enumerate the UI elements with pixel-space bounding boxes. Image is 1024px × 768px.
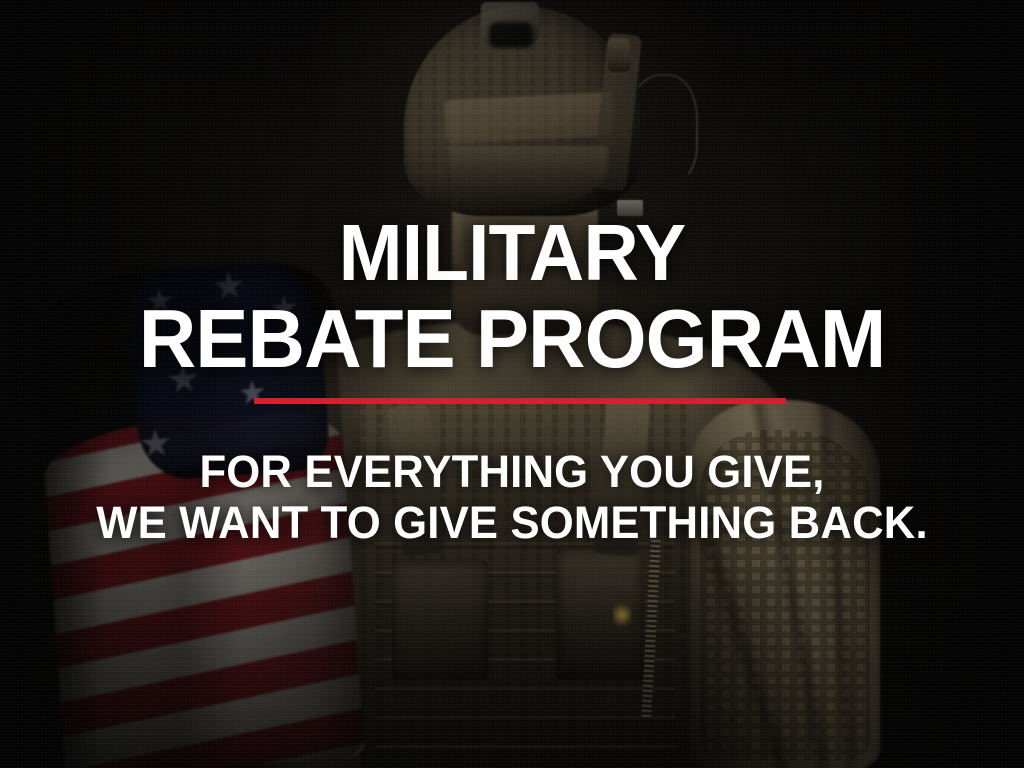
helmet-velcro-panel: [444, 92, 614, 145]
subheadline-line-1: FOR EVERYTHING YOU GIVE,: [15, 446, 1008, 498]
gear-accent-highlight: [613, 604, 631, 626]
military-rebate-program-banner: MILITARY REBATE PROGRAM FOR EVERYTHING Y…: [0, 0, 1024, 768]
communications-wire: [626, 74, 698, 184]
helmet-rail-clip: [608, 38, 630, 72]
nvg-mount-shadow: [489, 22, 533, 48]
magazine-pouch-left: [392, 560, 488, 680]
headline-line-1: MILITARY: [20, 216, 1003, 290]
red-divider-rule: [254, 398, 786, 404]
subheadline-line-2: WE WANT TO GIVE SOMETHING BACK.: [15, 497, 1008, 549]
headline-line-2: REBATE PROGRAM: [20, 300, 1003, 377]
